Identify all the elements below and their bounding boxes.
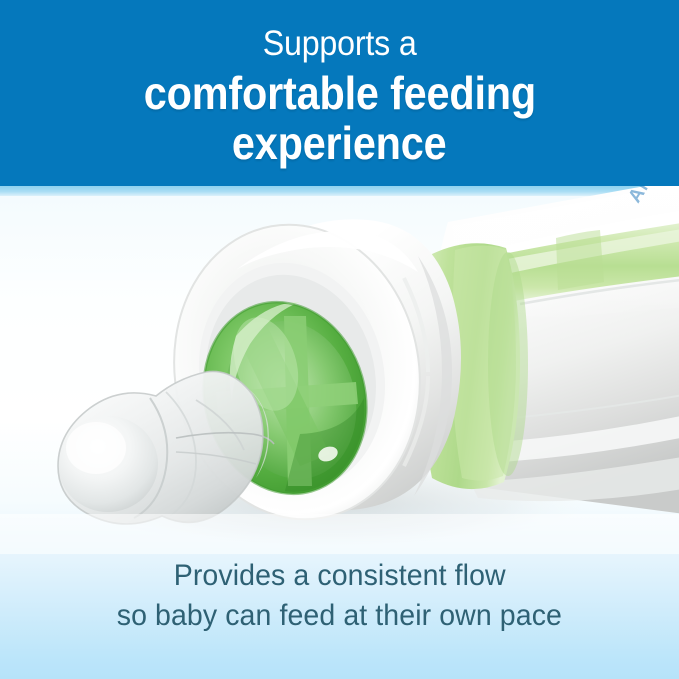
caption-line-1: Provides a consistent flow [174, 556, 506, 596]
product-image: ANTI-CO [0, 186, 679, 554]
header-banner: Supports a comfortable feeding experienc… [0, 0, 679, 186]
banner-headline-line-3: experience [232, 120, 447, 166]
caption-block: Provides a consistent flow so baby can f… [0, 556, 679, 656]
banner-headline-line-2: comfortable feeding [143, 70, 535, 116]
product-feature-panel: Supports a comfortable feeding experienc… [0, 0, 679, 679]
banner-headline-line-1: Supports a [263, 24, 417, 64]
bottle-illustration: ANTI-CO [0, 186, 679, 554]
caption-line-2: so baby can feed at their own pace [117, 596, 562, 636]
